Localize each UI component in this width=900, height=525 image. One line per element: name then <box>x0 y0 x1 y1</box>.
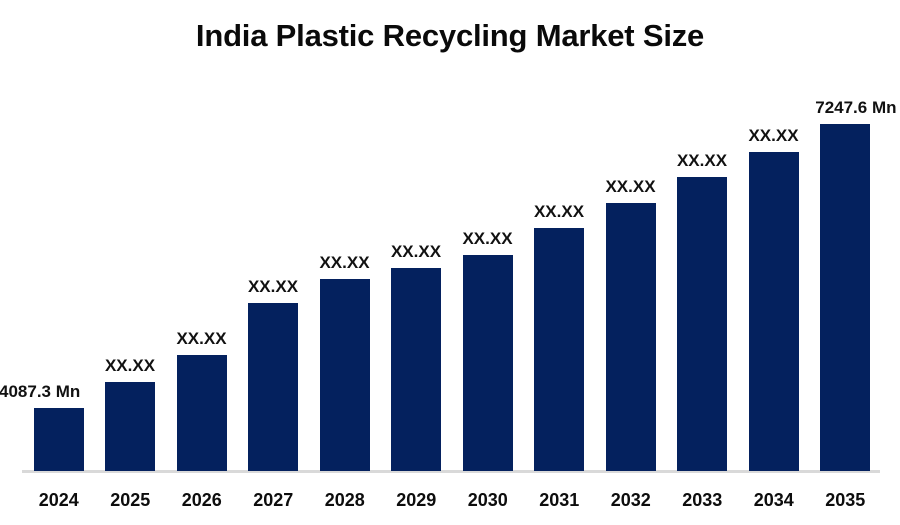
bar-value-label: XX.XX <box>218 277 329 297</box>
x-axis-tick-label: 2035 <box>810 490 882 511</box>
bar[interactable] <box>749 152 799 471</box>
bar-value-label: XX.XX <box>575 177 686 197</box>
x-axis-tick-label: 2028 <box>309 490 381 511</box>
bar-value-label: XX.XX <box>718 126 829 146</box>
bar[interactable] <box>463 255 513 471</box>
x-axis-tick-label: 2032 <box>595 490 667 511</box>
bar[interactable] <box>820 124 870 471</box>
bar-value-label: XX.XX <box>504 202 615 222</box>
bar[interactable] <box>320 279 370 471</box>
bar-value-label: XX.XX <box>146 329 257 349</box>
bar-value-label: 7247.6 Mn <box>786 98 900 118</box>
chart-container: India Plastic Recycling Market Size 4087… <box>0 0 900 525</box>
x-axis-tick-label: 2031 <box>524 490 596 511</box>
bar[interactable] <box>534 228 584 471</box>
bar[interactable] <box>105 382 155 471</box>
bar-value-label: 4087.3 Mn <box>0 382 110 402</box>
bar-value-label: XX.XX <box>432 229 543 249</box>
bar[interactable] <box>391 268 441 471</box>
bar[interactable] <box>677 177 727 471</box>
bar[interactable] <box>177 355 227 471</box>
x-axis-tick-label: 2025 <box>95 490 167 511</box>
x-axis-tick-label: 2024 <box>23 490 95 511</box>
bar[interactable] <box>606 203 656 471</box>
x-axis-tick-label: 2026 <box>166 490 238 511</box>
bar[interactable] <box>34 408 84 471</box>
x-axis-tick-label: 2033 <box>667 490 739 511</box>
bar-chart-plot-area: 4087.3 Mn2024XX.XX2025XX.XX2026XX.XX2027… <box>0 0 900 525</box>
x-axis-tick-label: 2034 <box>738 490 810 511</box>
x-axis-tick-label: 2029 <box>381 490 453 511</box>
x-axis-tick-label: 2030 <box>452 490 524 511</box>
x-axis-tick-label: 2027 <box>238 490 310 511</box>
bar[interactable] <box>248 303 298 471</box>
bar-value-label: XX.XX <box>75 356 186 376</box>
bar-value-label: XX.XX <box>647 151 758 171</box>
